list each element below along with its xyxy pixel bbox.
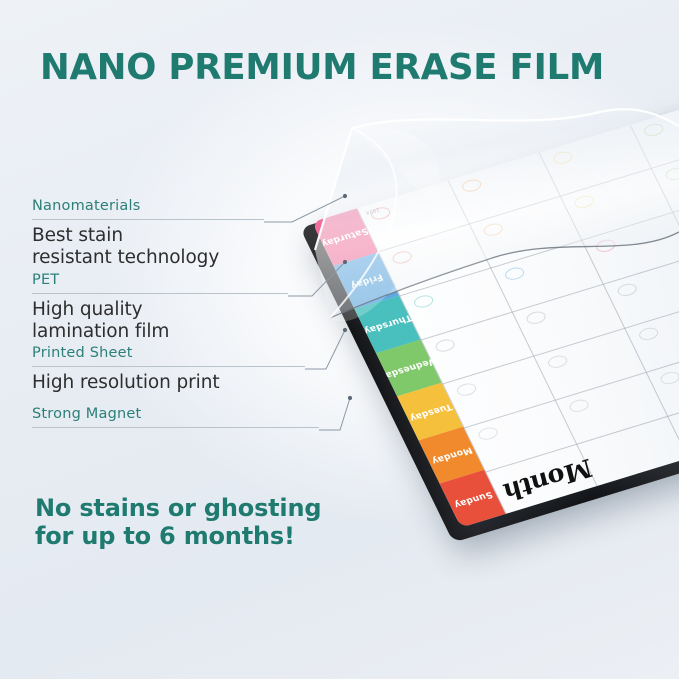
tagline: No stains or ghosting for up to 6 months… xyxy=(35,494,365,550)
callout-divider xyxy=(32,366,305,367)
callout-body: Best stain resistant technology xyxy=(32,225,264,269)
callout-divider xyxy=(32,427,319,428)
leader-dot-strong-magnet xyxy=(348,396,352,400)
callout-divider xyxy=(32,293,288,294)
callout-label: PET xyxy=(32,272,288,289)
callout-printed-sheet: Printed Sheet High resolution print xyxy=(32,345,305,394)
callout-body: High quality lamination film xyxy=(32,299,288,343)
infographic-canvas: Saturday Friday Thursday Wednesday Tuesd… xyxy=(0,0,679,679)
leader-dot-printed-sheet xyxy=(343,328,347,332)
callout-label: Strong Magnet xyxy=(32,406,319,423)
callout-label: Nanomaterials xyxy=(32,198,264,215)
page-title: NANO PREMIUM ERASE FILM xyxy=(40,47,650,88)
leader-dot-pet xyxy=(343,260,347,264)
callout-nanomaterials: Nanomaterials Best stain resistant techn… xyxy=(32,198,264,269)
callout-pet: PET High quality lamination film xyxy=(32,272,288,343)
callout-body: High resolution print xyxy=(32,372,305,394)
leader-dot-nanomaterials xyxy=(343,194,347,198)
callout-divider xyxy=(32,219,264,220)
callout-strong-magnet: Strong Magnet xyxy=(32,406,319,428)
callout-label: Printed Sheet xyxy=(32,345,305,362)
